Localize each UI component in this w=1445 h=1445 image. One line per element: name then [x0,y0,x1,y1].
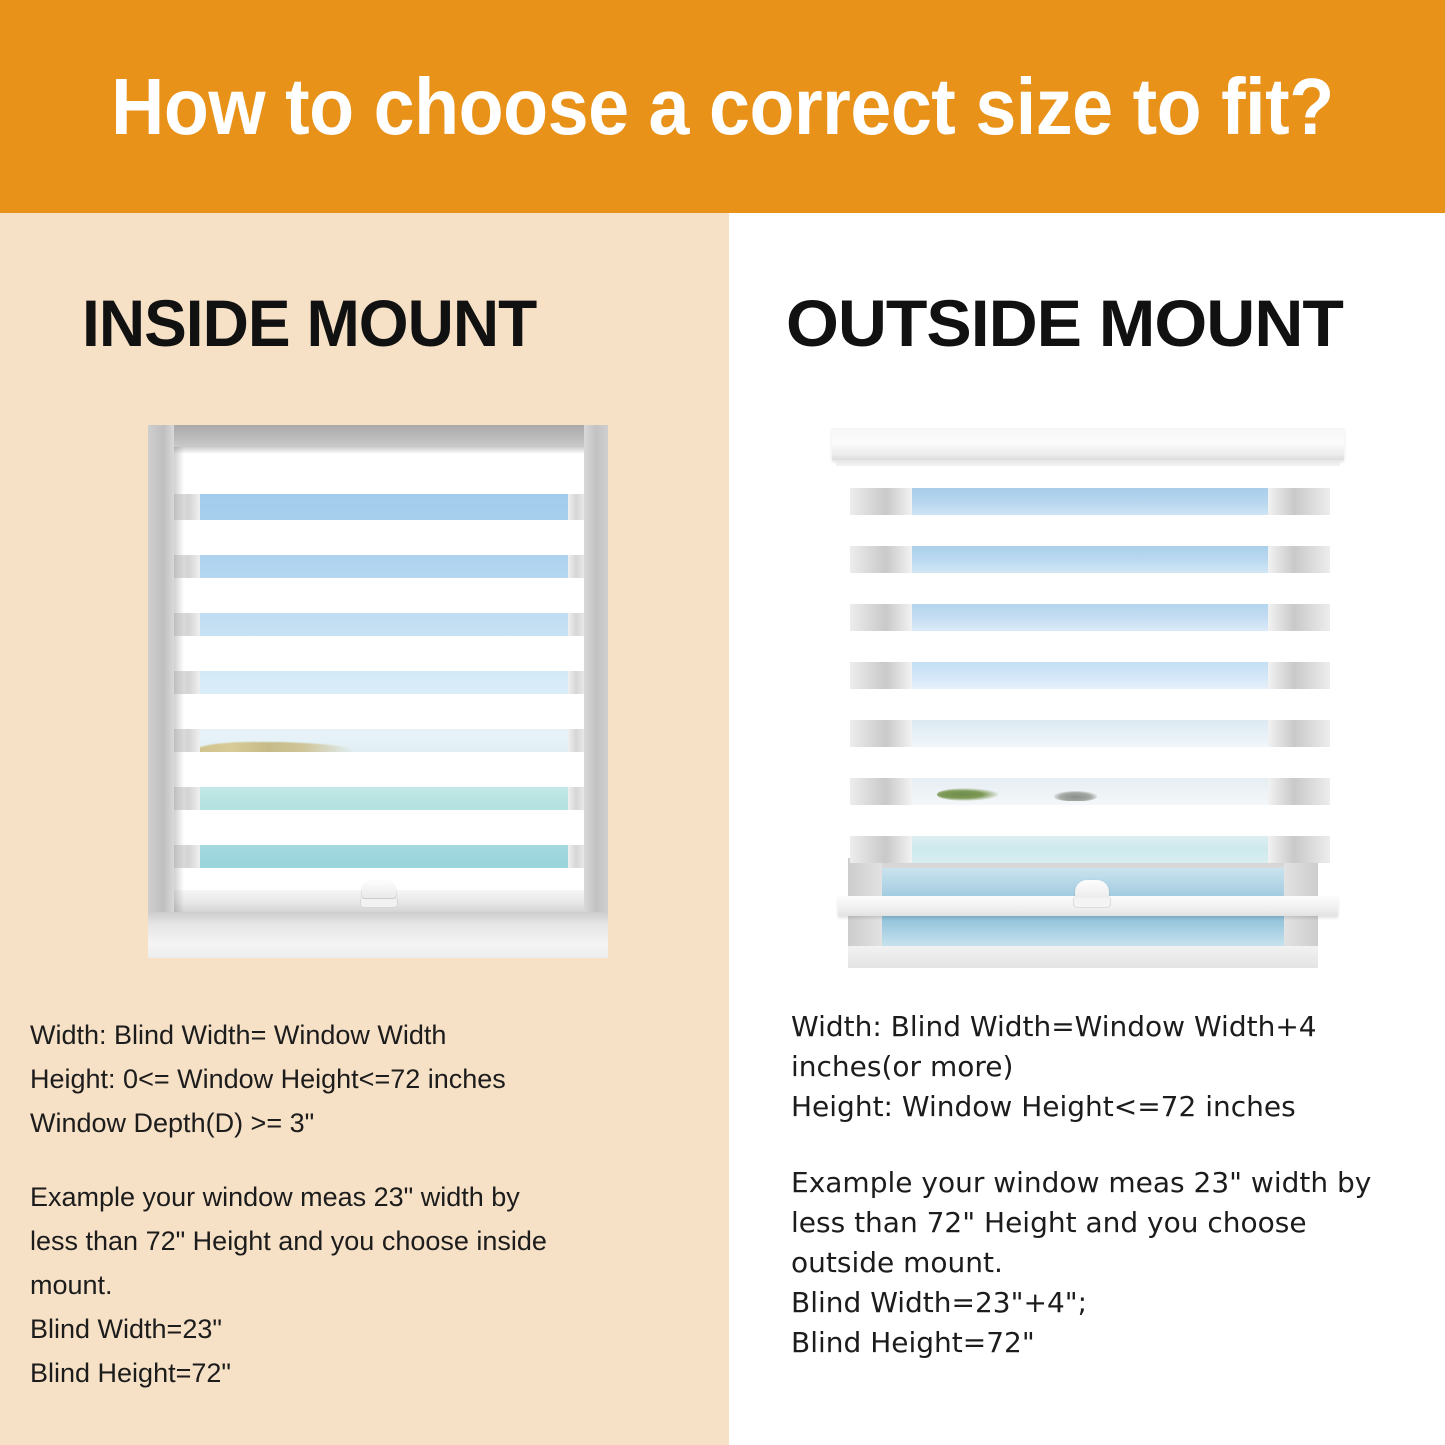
spec-line: Height: Window Height<=72 inches [791,1087,1391,1127]
vane-cap-right [568,613,584,636]
outside-mount-specs: Width: Blind Width=Window Width+4 inches… [791,1007,1391,1363]
spec-line: Window Depth(D) >= 3" [30,1101,630,1145]
vane-cap-right [1268,488,1330,515]
spec-line: Width: Blind Width=Window Width+4 [791,1007,1391,1047]
vane-cap-right [568,494,584,520]
rock-shape-icon [1054,791,1098,801]
inside-mount-heading: INSIDE MOUNT [82,285,536,361]
blind-slat [850,604,1330,631]
window-left-reveal [148,425,174,958]
size-guide-infographic: How to choose a correct size to fit? INS… [0,0,1445,1445]
blind-slat [850,662,1330,689]
vane-cap-left [174,494,200,520]
blind-band-opaque [174,810,584,845]
blind-slat [850,720,1330,747]
window-sill [848,946,1318,968]
spacer [30,1145,630,1175]
inside-mount-illustration [148,425,608,958]
vane-cap-left [174,671,200,694]
spec-line: Width: Blind Width= Window Width [30,1013,630,1057]
vane-cap-right [568,845,584,868]
inside-mount-panel: INSIDE MOUNT [0,213,729,1445]
vane-cap-right [568,787,584,810]
slat-view-strip [908,662,1272,689]
window-right-reveal [584,425,608,958]
blind-band-opaque [174,752,584,787]
example-line: Blind Width=23"+4"; [791,1283,1391,1323]
example-line: outside mount. [791,1243,1391,1283]
spacer [791,1127,1391,1163]
vane-cap-right [568,729,584,752]
vane-cap-left [174,729,200,752]
spec-line: inches(or more) [791,1047,1391,1087]
vane-cap-left [174,845,200,868]
blind-pull-handle-base[interactable] [360,899,398,908]
vane-cap-left [850,604,912,631]
vane-cap-right [568,671,584,694]
blind-pull-handle[interactable] [1075,880,1109,898]
blind-band-opaque [174,447,584,494]
window-opening [174,447,584,912]
vane-cap-right [1268,836,1330,863]
vane-cap-left [850,836,912,863]
blind-pull-handle[interactable] [362,881,396,898]
tree-shape-icon [937,788,999,800]
example-line: Example your window meas 23" width by [30,1175,630,1219]
vane-cap-right [1268,662,1330,689]
example-line: Blind Width=23" [30,1307,630,1351]
window-top-reveal [148,425,608,447]
page-title: How to choose a correct size to fit? [111,61,1334,153]
vane-cap-left [850,662,912,689]
spec-line: Height: 0<= Window Height<=72 inches [30,1057,630,1101]
example-line: Blind Height=72" [30,1351,630,1395]
vane-cap-left [174,787,200,810]
vane-cap-left [174,613,200,636]
blind-slat [850,836,1330,863]
blind-band-opaque [174,636,584,671]
comparison-panels: INSIDE MOUNT [0,213,1445,1445]
blind-slat [850,778,1330,805]
window-sill [148,912,608,958]
blind-slat [850,546,1330,573]
vane-cap-right [1268,778,1330,805]
slat-view-strip [908,720,1272,747]
vane-cap-right [568,555,584,578]
blind-band-opaque [174,578,584,613]
example-line: Example your window meas 23" width by [791,1163,1391,1203]
vane-cap-right [1268,720,1330,747]
inside-mount-specs: Width: Blind Width= Window Width Height:… [30,1013,630,1395]
blind-headrail [832,428,1344,460]
example-line: mount. [30,1263,630,1307]
example-line: less than 72" Height and you choose [791,1203,1391,1243]
header-banner: How to choose a correct size to fit? [0,0,1445,213]
slat-view-strip [908,546,1272,573]
vane-cap-left [850,720,912,747]
vane-cap-left [174,555,200,578]
vane-cap-left [850,488,912,515]
vane-cap-right [1268,604,1330,631]
slat-view-strip [908,604,1272,631]
blind-band-opaque [174,694,584,729]
blind-slat [850,488,1330,515]
vane-cap-left [850,546,912,573]
slat-view-strip [908,778,1272,805]
vane-cap-left [850,778,912,805]
outside-mount-heading: OUTSIDE MOUNT [786,285,1343,361]
outside-mount-illustration [832,428,1352,968]
vane-cap-right [1268,546,1330,573]
slat-view-strip [908,488,1272,515]
example-line: Blind Height=72" [791,1323,1391,1363]
slat-view-strip [908,836,1272,863]
blind-band-opaque [174,520,584,555]
blind-pull-handle-base[interactable] [1073,898,1111,908]
example-line: less than 72" Height and you choose insi… [30,1219,630,1263]
outside-mount-panel: OUTSIDE MOUNT [729,213,1445,1445]
